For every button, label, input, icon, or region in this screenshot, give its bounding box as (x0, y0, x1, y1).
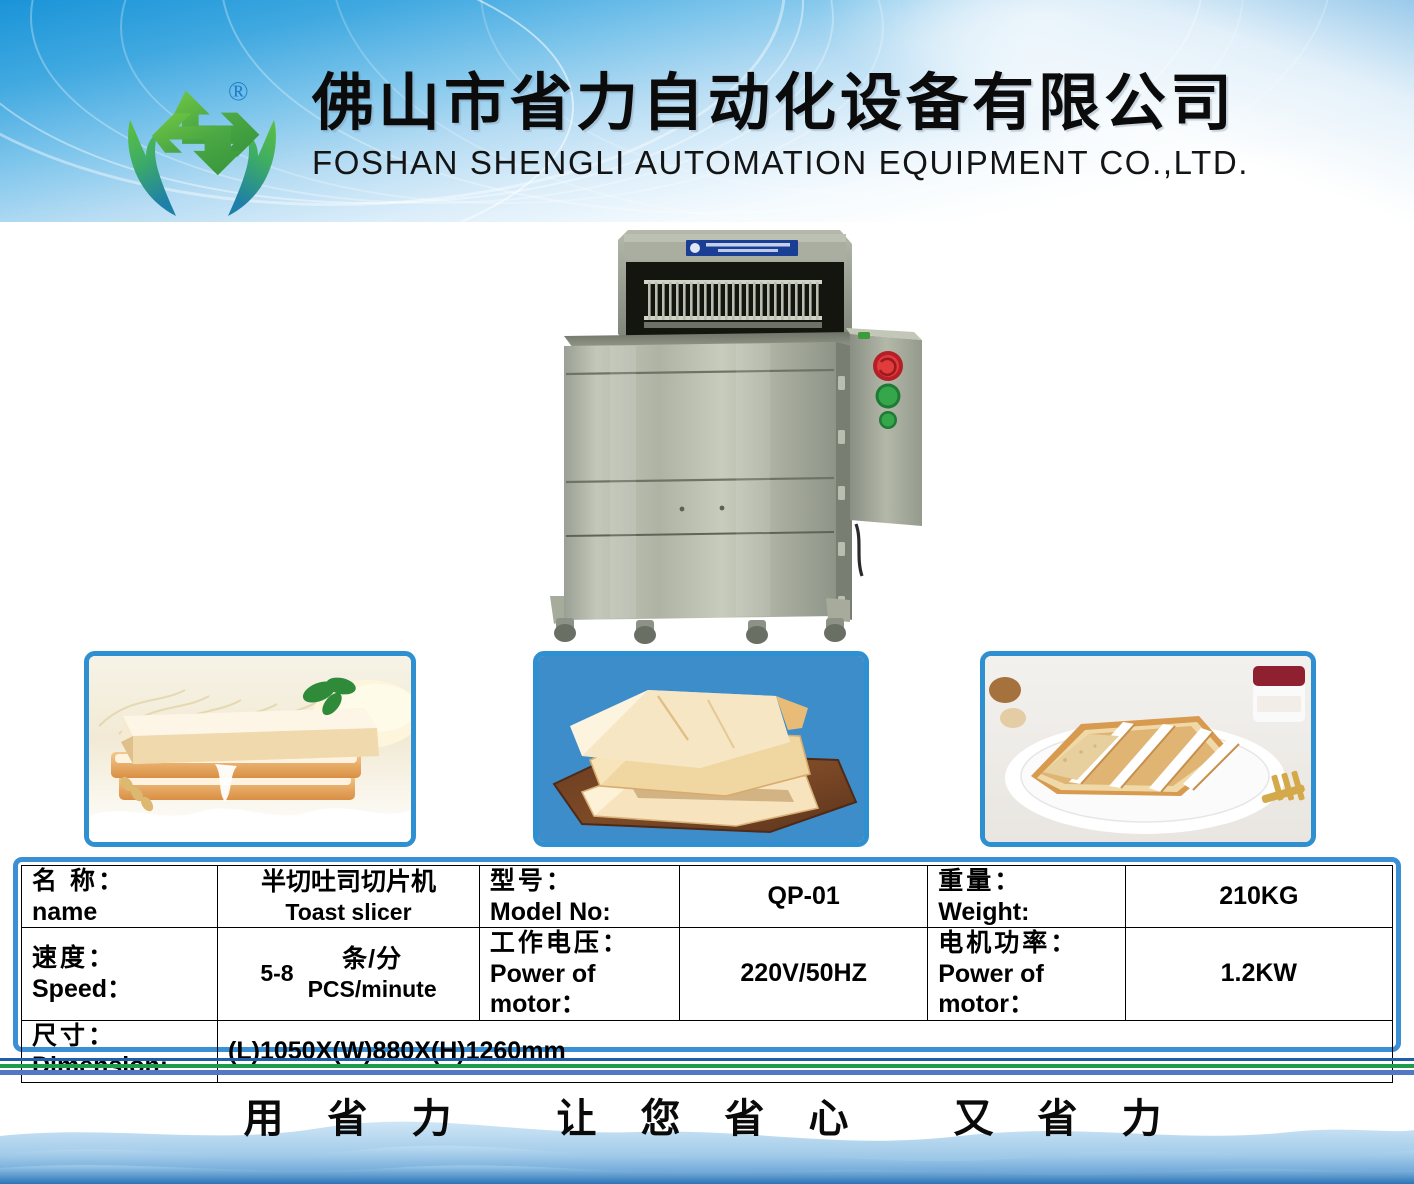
cell-voltage-value: 220V/50HZ (680, 928, 928, 1021)
power-label-en: Power of motor： (938, 959, 1114, 1020)
slogan-part-3: 又 省 力 (946, 1086, 1179, 1144)
cell-weight-label: 重量： Weight: (928, 866, 1125, 928)
registered-trademark-icon: ® (228, 78, 249, 105)
voltage-label-cn: 工作电压： (490, 928, 669, 959)
name-label-en: name (32, 897, 207, 928)
name-label-cn: 名 称： (32, 866, 207, 897)
name-value-cn: 半切吐司切片机 (228, 867, 469, 898)
cell-model-value: QP-01 (680, 866, 928, 928)
cell-power-value: 1.2KW (1125, 928, 1392, 1021)
cell-speed-value: 5-8 条/分 PCS/minute (218, 928, 480, 1021)
photo-image (985, 656, 1311, 842)
table-row: 名 称： name 半切吐司切片机 Toast slicer 型号： Model… (22, 866, 1393, 928)
product-photo-toast-plate (980, 651, 1316, 847)
cell-model-label: 型号： Model No: (479, 866, 679, 928)
speed-label-en: Speed： (32, 974, 207, 1005)
weight-label-cn: 重量： (938, 866, 1114, 897)
cell-name-label: 名 称： name (22, 866, 218, 928)
company-name-cn: 佛山市省力自动化设备有限公司 (312, 72, 1332, 137)
divider-rule-green (0, 1064, 1414, 1068)
page-header: ® 佛山市省力自动化设备有限公司 FOSHAN SHENGLI AUTOMATI… (0, 0, 1414, 222)
product-photo-toast-board (533, 651, 869, 847)
company-title-block: 佛山市省力自动化设备有限公司 FOSHAN SHENGLI AUTOMATION… (312, 72, 1332, 182)
cell-name-value: 半切吐司切片机 Toast slicer (218, 866, 480, 928)
divider-rule-blue (0, 1070, 1414, 1075)
model-label-cn: 型号： (490, 866, 669, 897)
model-label-en: Model No: (490, 897, 669, 928)
cell-power-label: 电机功率： Power of motor： (928, 928, 1125, 1021)
speed-unit-en: PCS/minute (308, 975, 437, 1004)
machine-product-photo (540, 224, 980, 644)
voltage-label-en: Power of motor： (490, 959, 669, 1020)
slogan-part-2: 让 您 省 心 (549, 1086, 866, 1144)
company-slogan: 用 省 力 让 您 省 心 又 省 力 (0, 1086, 1414, 1144)
speed-value-number: 5-8 (260, 960, 293, 987)
specification-table: 名 称： name 半切吐司切片机 Toast slicer 型号： Model… (13, 857, 1401, 1052)
speed-unit-cn: 条/分 (308, 944, 437, 975)
cell-speed-label: 速度： Speed： (22, 928, 218, 1021)
product-spec-sheet: ® 佛山市省力自动化设备有限公司 FOSHAN SHENGLI AUTOMATI… (0, 0, 1414, 1184)
name-value-en: Toast slicer (228, 898, 469, 927)
company-name-en: FOSHAN SHENGLI AUTOMATION EQUIPMENT CO.,… (312, 144, 1332, 182)
slogan-part-1: 用 省 力 (236, 1086, 469, 1144)
photo-image (538, 656, 864, 842)
cell-voltage-label: 工作电压： Power of motor： (479, 928, 679, 1021)
speed-label-cn: 速度： (32, 943, 207, 974)
cell-weight-value: 210KG (1125, 866, 1392, 928)
dimension-label-cn: 尺寸： (32, 1021, 207, 1052)
product-photo-toast-stack (84, 651, 416, 847)
company-logo-icon (124, 74, 280, 222)
table-row: 速度： Speed： 5-8 条/分 PCS/minute (22, 928, 1393, 1021)
divider-rule-dark-blue (0, 1058, 1414, 1061)
power-label-cn: 电机功率： (938, 928, 1114, 959)
photo-image (89, 656, 411, 842)
weight-label-en: Weight: (938, 897, 1114, 928)
